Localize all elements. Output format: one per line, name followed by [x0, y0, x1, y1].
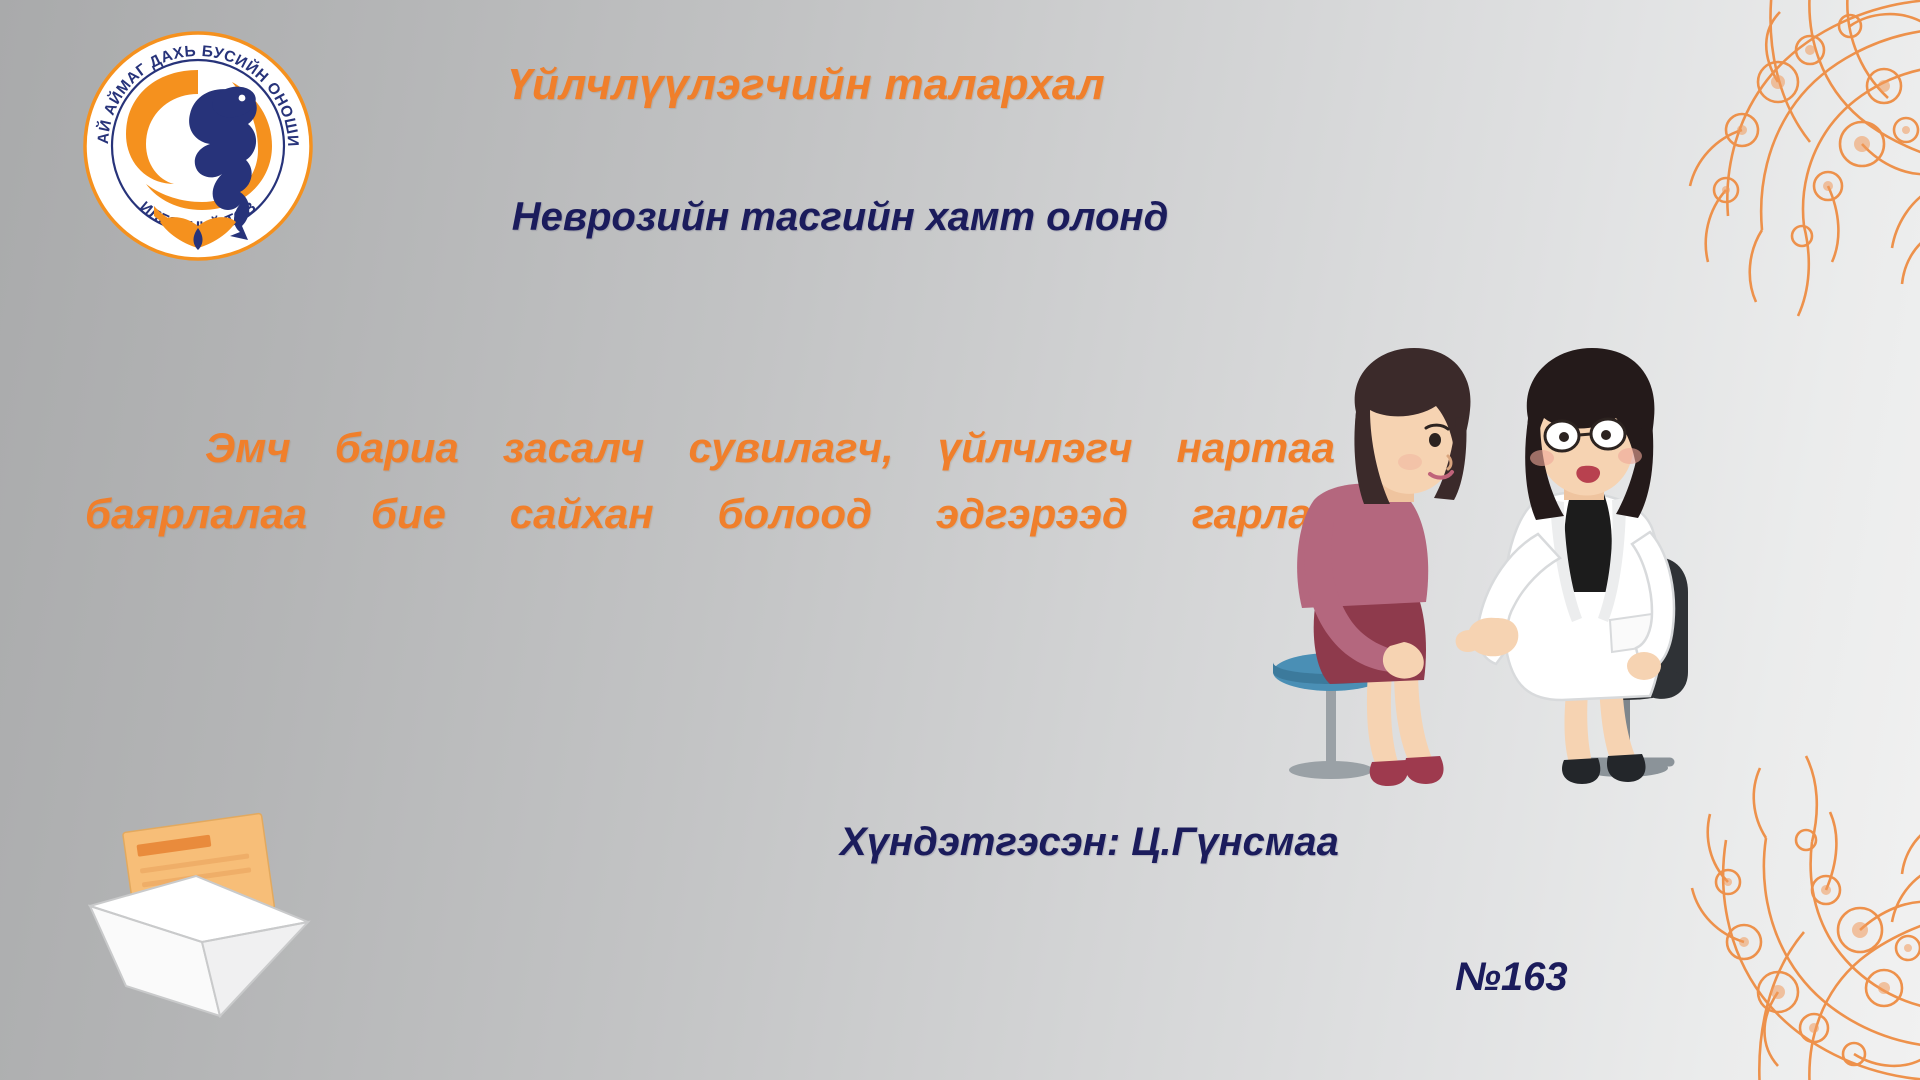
doctor-patient-consultation-illustration — [1180, 300, 1840, 820]
signature-line: Хүндэтгэсэн: Ц.Гүнсмаа — [840, 820, 1339, 865]
open-envelope-icon — [68, 810, 323, 1025]
page-subtitle: Неврозийн тасгийн хамт олонд — [0, 195, 1680, 240]
appreciation-slide: ӨВӨРХАНГАЙ АЙМАГ ДАХЬ БУСИЙН ОНОШИЛГОО Э… — [0, 0, 1920, 1080]
floral-corner-ornament-top-right — [1510, 0, 1920, 350]
page-title: Үйлчлүүлэгчийн талархал — [0, 60, 1612, 110]
document-number: №163 — [1455, 955, 1568, 1000]
appreciation-body-text: Эмч бариа засалч сувилагч, үйлчлэгч нарт… — [85, 415, 1335, 614]
